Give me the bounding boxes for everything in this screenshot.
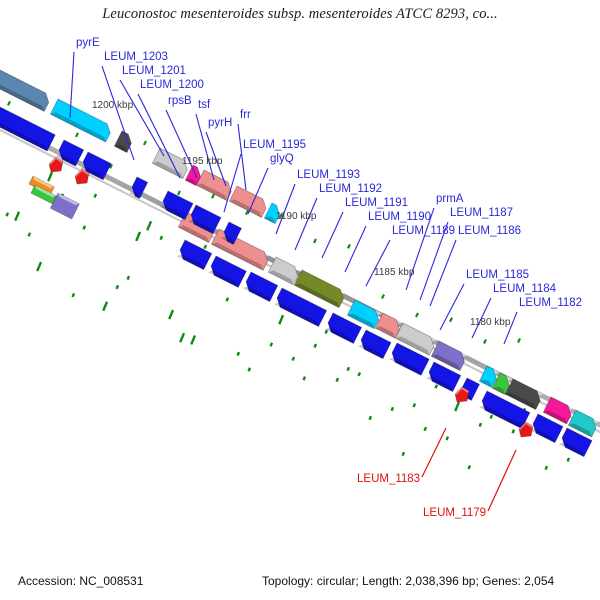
gene-label[interactable]: glyQ xyxy=(270,153,294,165)
trna-tick xyxy=(15,212,19,221)
gene-label[interactable]: LEUM_1190 xyxy=(368,211,431,223)
trna-tick xyxy=(455,402,459,411)
trna-tick xyxy=(117,285,118,289)
trna-tick xyxy=(293,357,294,361)
ruler-tick-label: 1200 kbp xyxy=(92,100,134,111)
trna-tick xyxy=(84,226,85,230)
trna-tick xyxy=(491,415,492,419)
label-leader-line xyxy=(488,450,516,511)
label-leader-line xyxy=(366,240,390,286)
ruler-tick-labels: 1200 kbp1195 kbp1190 kbp1185 kbp1180 kbp xyxy=(92,100,511,328)
genome-map-viewer: Leuconostoc mesenteroides subsp. mesente… xyxy=(0,0,600,600)
trna-tick xyxy=(205,245,206,249)
trna-tick xyxy=(392,407,393,411)
trna-tick xyxy=(304,377,305,381)
gene-feature-reverse[interactable] xyxy=(243,272,278,302)
gene-label[interactable]: LEUM_1184 xyxy=(493,283,557,295)
trna-tick xyxy=(279,315,283,324)
trna-tick xyxy=(7,213,8,217)
trna-tick xyxy=(180,333,184,342)
trna-tick xyxy=(436,385,437,389)
status-bar: Accession: NC_008531 Topology: circular;… xyxy=(0,566,600,600)
trna-tick xyxy=(484,339,486,343)
trna-tick xyxy=(546,466,547,470)
trna-tick xyxy=(48,172,52,181)
trna-tick xyxy=(370,416,371,420)
gene-label[interactable]: LEUM_1192 xyxy=(319,183,382,195)
gene-label[interactable]: tsf xyxy=(198,99,211,111)
gene-feature-forward[interactable] xyxy=(114,131,134,152)
trna-tick xyxy=(271,343,272,347)
gene-label[interactable]: frr xyxy=(240,109,251,121)
gene-label[interactable]: rpsB xyxy=(168,95,192,107)
label-leader-line xyxy=(322,212,343,258)
gene-feature-forward[interactable] xyxy=(229,186,269,217)
gene-label[interactable]: LEUM_1201 xyxy=(122,65,186,77)
trna-tick xyxy=(161,236,162,240)
trna-tick xyxy=(238,352,239,356)
misc-feature-blocks[interactable] xyxy=(29,176,79,219)
trna-tick xyxy=(95,194,96,198)
trna-tick xyxy=(76,133,78,137)
accession-text: Accession: NC_008531 xyxy=(18,574,143,588)
trna-tick xyxy=(227,298,228,302)
trna-tick xyxy=(136,232,140,241)
trna-tick xyxy=(469,466,470,470)
gene-label[interactable]: LEUM_1187 xyxy=(450,207,513,219)
gene-feature-reverse[interactable] xyxy=(358,330,391,359)
trna-tick xyxy=(73,293,74,297)
gene-label[interactable]: LEUM_1193 xyxy=(297,169,360,181)
trna-tick xyxy=(450,318,452,322)
gene-label[interactable]: LEUM_1191 xyxy=(345,197,408,209)
rna-feature-marker[interactable] xyxy=(49,157,63,172)
trna-tick xyxy=(191,335,195,344)
trna-tick xyxy=(326,330,327,334)
trna-tick xyxy=(249,368,250,372)
gene-label[interactable]: LEUM_1179 xyxy=(423,507,486,519)
label-leader-line xyxy=(345,226,366,272)
gene-label[interactable]: LEUM_1183 xyxy=(357,473,420,485)
gene-label[interactable]: LEUM_1182 xyxy=(519,297,582,309)
trna-tick xyxy=(8,101,10,105)
gene-feature-reverse[interactable] xyxy=(177,240,212,270)
label-leader-line xyxy=(430,240,456,306)
trna-tick xyxy=(403,452,404,456)
trna-tick xyxy=(169,310,173,319)
trna-tick xyxy=(337,378,338,382)
trna-tick xyxy=(480,423,481,427)
ruler-tick-label: 1190 kbp xyxy=(276,211,317,222)
trna-tick xyxy=(128,276,129,280)
gene-label[interactable]: LEUM_1186 xyxy=(458,225,521,237)
ruler-tick-label: 1195 kbp xyxy=(182,156,223,167)
gene-label[interactable]: prmA xyxy=(436,193,464,205)
trna-tick xyxy=(37,262,41,271)
trna-tick xyxy=(359,372,360,376)
trna-tick xyxy=(348,244,350,248)
trna-tick xyxy=(103,302,107,311)
trna-tick xyxy=(144,141,146,145)
trna-tick xyxy=(518,339,520,343)
trna-tick xyxy=(29,233,30,237)
label-leader-line xyxy=(440,284,464,330)
trna-tick xyxy=(212,194,214,198)
trna-tick xyxy=(178,191,180,195)
gene-label[interactable]: LEUM_1195 xyxy=(243,139,306,151)
gene-label-layer[interactable]: pyrELEUM_1203LEUM_1201LEUM_1200rpsBtsfpy… xyxy=(76,37,582,519)
gene-label[interactable]: LEUM_1203 xyxy=(104,51,168,63)
trna-tick xyxy=(447,437,448,441)
trna-tick xyxy=(513,430,514,434)
label-leader-line xyxy=(422,428,446,477)
trna-tick xyxy=(314,239,316,243)
trna-tick xyxy=(568,458,569,462)
trna-tick xyxy=(425,427,426,431)
label-leader-line xyxy=(238,124,246,190)
trna-tick xyxy=(315,344,316,348)
gene-label[interactable]: LEUM_1189 xyxy=(392,225,455,237)
trna-tick xyxy=(414,404,415,408)
trna-tick xyxy=(246,211,248,215)
ruler-tick-label: 1180 kbp xyxy=(470,317,511,328)
gene-label[interactable]: pyrE xyxy=(76,37,100,49)
trna-tick xyxy=(348,367,349,371)
gene-label[interactable]: LEUM_1200 xyxy=(140,79,204,91)
trna-tick xyxy=(147,221,151,230)
genome-map-canvas[interactable]: 1200 kbp1195 kbp1190 kbp1185 kbp1180 kbp… xyxy=(0,0,600,600)
trna-tick xyxy=(382,294,384,298)
gene-feature-reverse[interactable] xyxy=(208,256,246,287)
ruler-tick-label: 1185 kbp xyxy=(374,267,415,278)
trna-tick xyxy=(416,313,418,317)
topology-text: Topology: circular; Length: 2,038,396 bp… xyxy=(262,574,554,588)
gene-label[interactable]: LEUM_1185 xyxy=(466,269,529,281)
gene-label[interactable]: pyrH xyxy=(208,117,232,129)
